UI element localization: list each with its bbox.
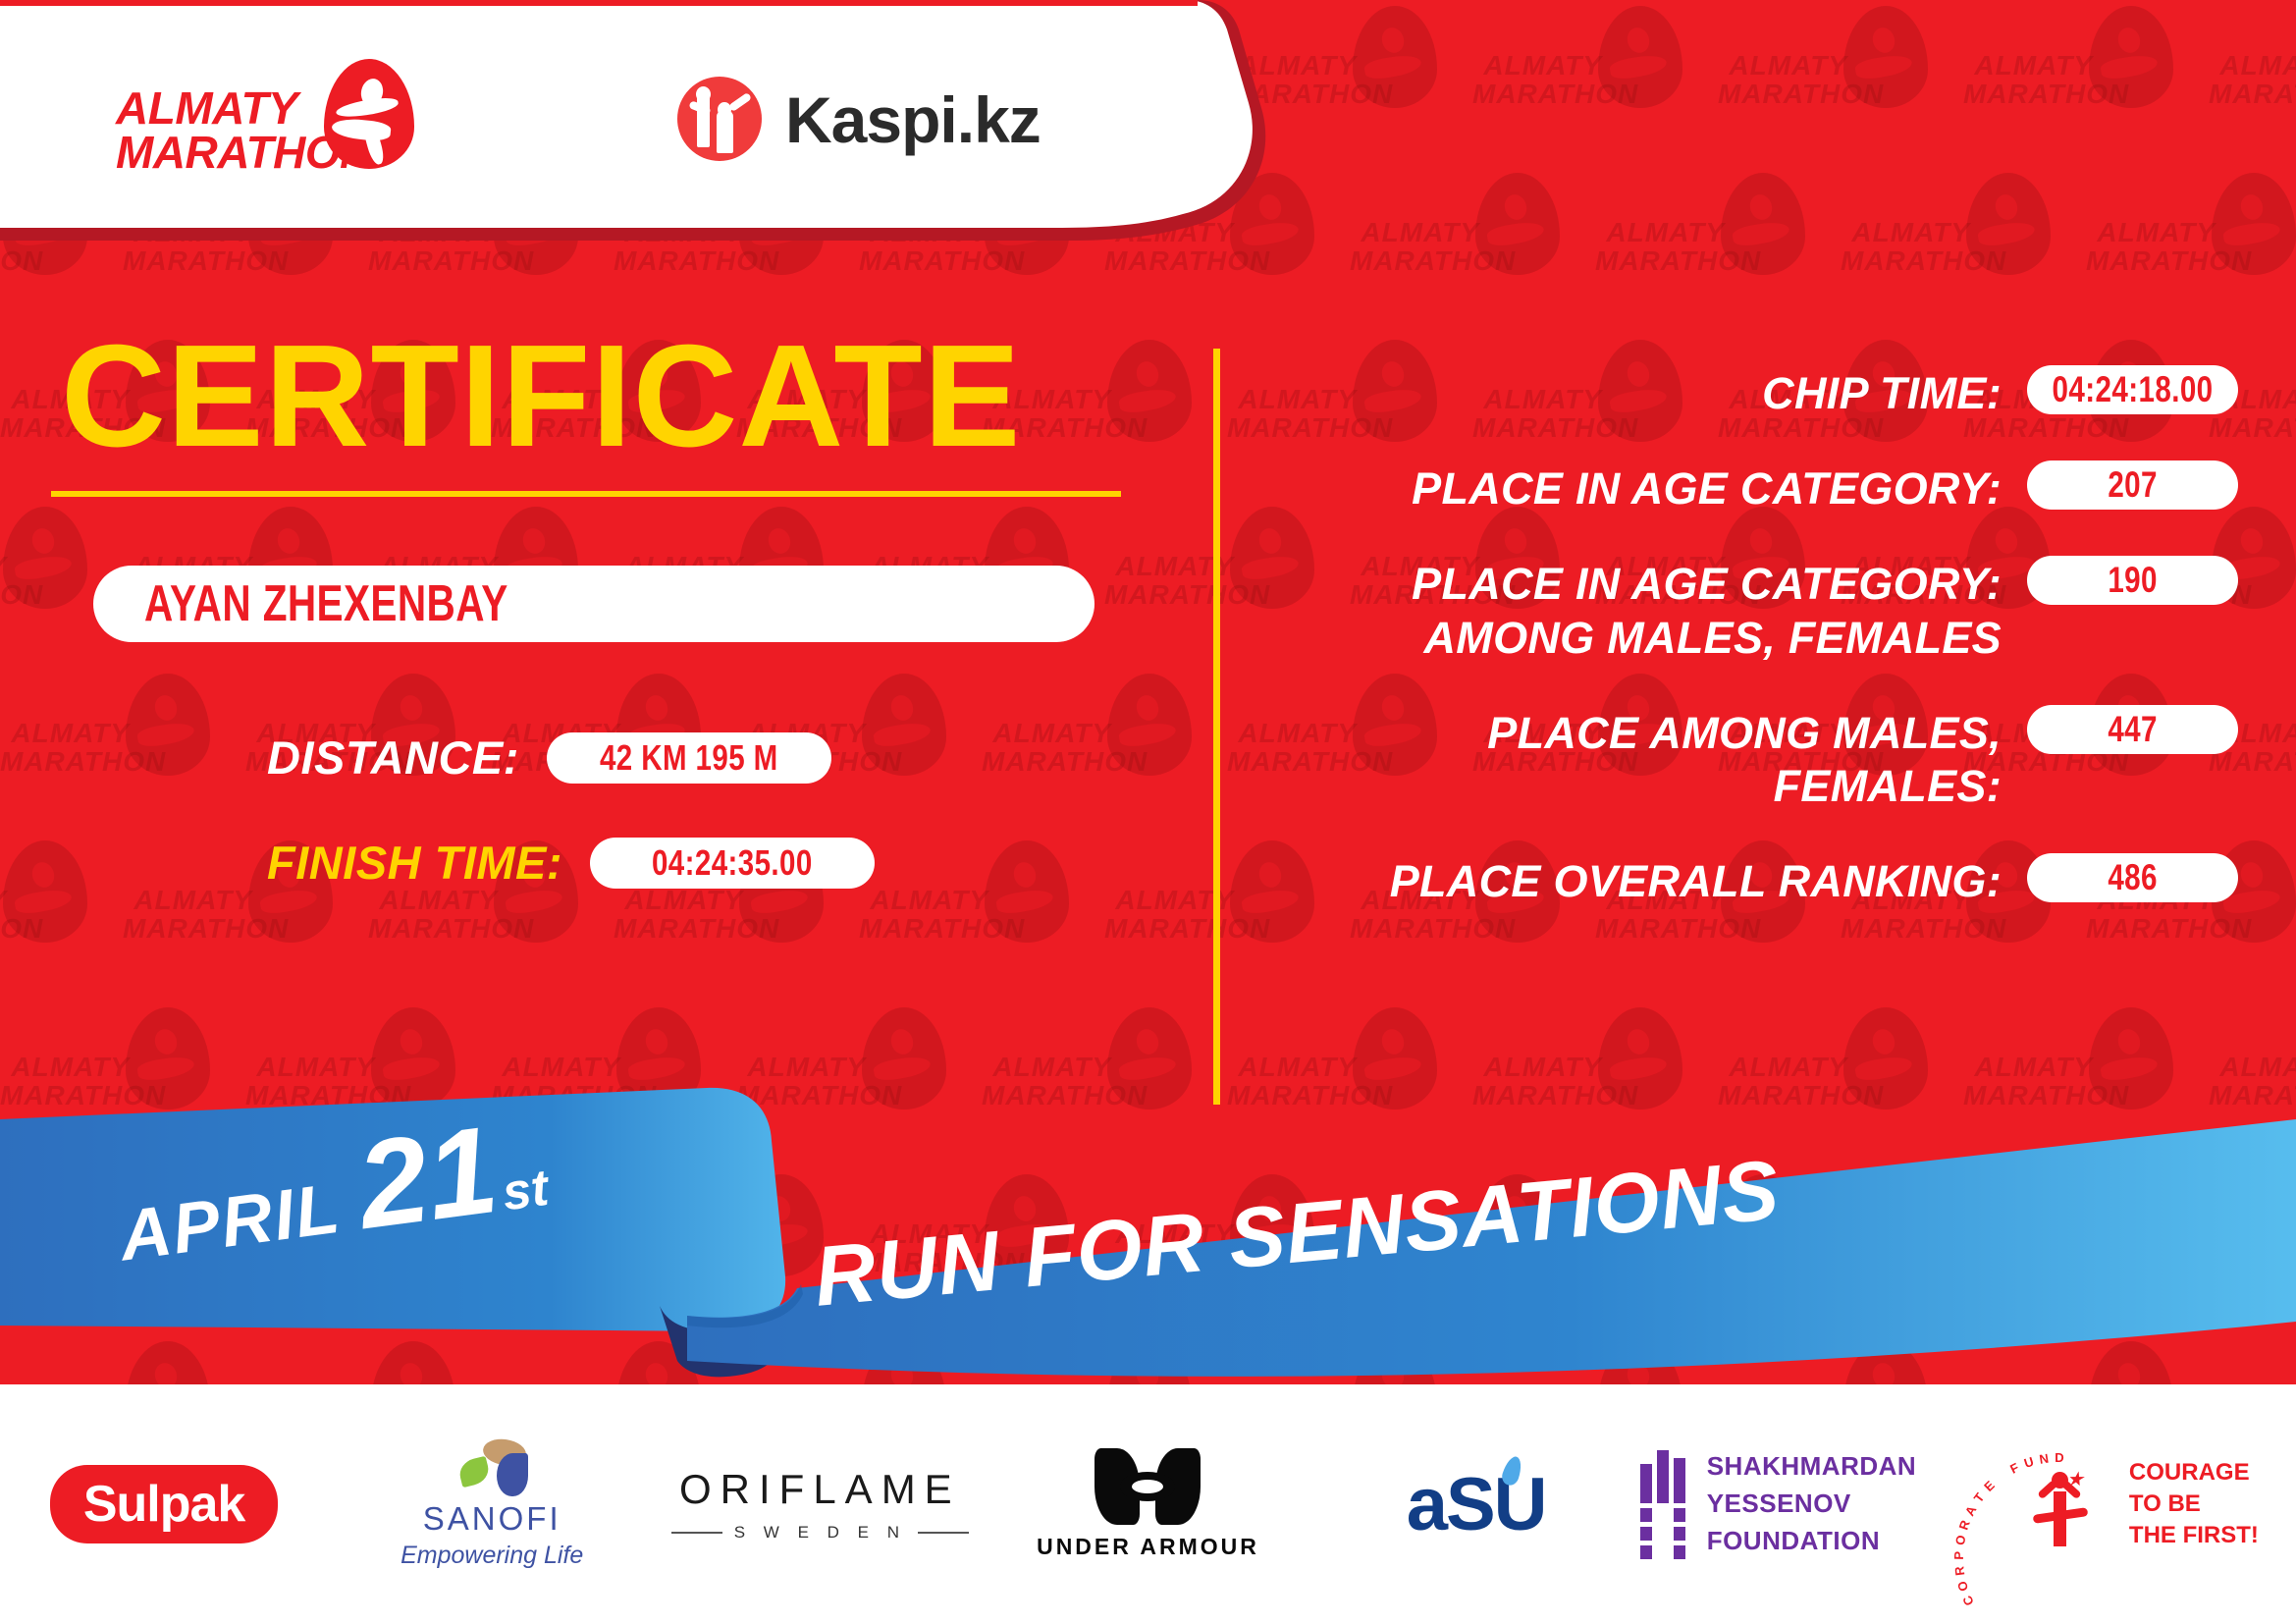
finish-time-label: FINISH TIME: [267, 836, 562, 890]
sponsor-sulpak: Sulpak [0, 1431, 328, 1578]
watermark-text: ALMATYMARATHON [2209, 51, 2296, 109]
sulpak-logo: Sulpak [50, 1465, 279, 1543]
raised-arms-figure-icon: ★ [2039, 1472, 2080, 1548]
watermark-tile: ALMATYMARATHON [2086, 167, 2296, 334]
courage-fund-wordmark: COURAGETO BETHE FIRST! [2129, 1457, 2259, 1550]
result-label: CHIP TIME: [1256, 365, 2027, 421]
distance-value-pill: 42 KM 195 M [547, 732, 831, 784]
almaty-marathon-logo: ALMATY MARATHON [116, 59, 440, 177]
finish-time-value: 04:24:35.00 [652, 842, 813, 884]
sponsor-under-armour: UNDER ARMOUR [984, 1431, 1311, 1578]
oriflame-country: S W E D E N [734, 1523, 906, 1543]
watermark-drop-icon [1843, 6, 1928, 108]
watermark-text: ALMATYMARATHON [123, 886, 252, 944]
result-value: 04:24:18.00 [2052, 369, 2213, 410]
asu-wordmark: aSU [1407, 1463, 1546, 1546]
kaspi-wordmark: Kaspi.kz [785, 82, 1041, 157]
watermark-drop-icon [2089, 6, 2173, 108]
page-title: CERTIFICATE [61, 324, 1207, 469]
watermark-tile: ALMATYMARATHON [1472, 0, 1718, 167]
watermark-text: ALMATYMARATHON [2086, 218, 2216, 276]
under-armour-wordmark: UNDER ARMOUR [1037, 1534, 1259, 1560]
watermark-drop-icon [1475, 173, 1560, 275]
oriflame-wordmark: ORIFLAME [679, 1466, 961, 1513]
ring-char: E [1981, 1478, 1998, 1494]
watermark-tile: ALMATYMARATHON [2209, 0, 2296, 167]
ring-char: P [1951, 1551, 1966, 1560]
watermark-tile: ALMATYMARATHON [1718, 0, 1963, 167]
asu-logo: aSU [1407, 1462, 1546, 1547]
watermark-text: ALMATYMARATHON [1718, 51, 1847, 109]
ring-char: O [1954, 1580, 1971, 1594]
ring-char: U [2022, 1454, 2036, 1471]
athlete-name-value: AYAN ZHEXENBAY [144, 574, 508, 633]
results-panel: CHIP TIME:04:24:18.00PLACE IN AGE CATEGO… [1256, 365, 2238, 948]
watermark-text: ALMATYMARATHON [614, 886, 743, 944]
watermark-tile: ALMATYMARATHON [1963, 0, 2209, 167]
result-value-pill: 486 [2027, 853, 2238, 902]
result-value: 190 [2108, 560, 2158, 601]
sponsor-bar: Sulpak SANOFI Empowering Life ORIFLAME S… [0, 1384, 2296, 1624]
event-month: APRIL [115, 1168, 346, 1277]
sanofi-tagline: Empowering Life [400, 1542, 583, 1570]
sulpak-wordmark: Sulpak [83, 1476, 245, 1533]
distance-row: DISTANCE: 42 KM 195 M [267, 731, 1207, 785]
watermark-tile: ALMATYMARATHON [1350, 167, 1595, 334]
result-row: PLACE AMONG MALES,FEMALES:447 [1256, 705, 2238, 815]
certificate-card: ALMATYMARATHONALMATYMARATHONALMATYMARATH… [0, 0, 2296, 1624]
sponsor-courage-fund: CORPORATE FUND ★ COURAGETO BETHE FIRST! [1968, 1431, 2296, 1578]
yessenov-foundation-wordmark: SHAKHMARDAN YESSENOVFOUNDATION [1707, 1448, 1968, 1559]
family-circle-icon [677, 77, 762, 161]
top-accent-line [0, 0, 1198, 6]
ring-char: T [1971, 1490, 1988, 1505]
distance-value: 42 KM 195 M [600, 737, 778, 779]
result-value-pill: 207 [2027, 460, 2238, 510]
watermark-text: ALMATYMARATHON [368, 886, 498, 944]
kaspi-logo: Kaspi.kz [677, 77, 1090, 171]
watermark-tile: ALMATYMARATHON [1595, 167, 1841, 334]
watermark-text: ALMATYMARATHON [859, 886, 988, 944]
event-day: 21 [349, 1098, 505, 1257]
result-row: CHIP TIME:04:24:18.00 [1256, 365, 2238, 421]
ring-char: F [2007, 1460, 2021, 1477]
finish-time-row: FINISH TIME: 04:24:35.00 [267, 836, 1207, 890]
result-value-pill: 04:24:18.00 [2027, 365, 2238, 414]
ring-char: C [1959, 1594, 1977, 1608]
vertical-divider [1213, 349, 1220, 1105]
result-row: PLACE IN AGE CATEGORY:207 [1256, 460, 2238, 516]
result-value-pill: 190 [2027, 556, 2238, 605]
watermark-text: ALMATYMARATHON [1472, 51, 1602, 109]
watermark-drop-icon [1966, 173, 2051, 275]
sponsor-yessenov-foundation: SHAKHMARDAN YESSENOVFOUNDATION [1640, 1431, 1968, 1578]
sponsor-asu: aSU [1312, 1431, 1640, 1578]
result-label: PLACE IN AGE CATEGORY:AMONG MALES, FEMAL… [1256, 556, 2027, 666]
athlete-name-field: AYAN ZHEXENBAY [93, 566, 1095, 642]
watermark-drop-icon [2212, 173, 2296, 275]
distance-label: DISTANCE: [267, 731, 519, 785]
watermark-tile: ALMATYMARATHON [1841, 167, 2086, 334]
result-label: PLACE IN AGE CATEGORY: [1256, 460, 2027, 516]
result-value-pill: 447 [2027, 705, 2238, 754]
title-underline [51, 491, 1121, 497]
yessenov-foundation-logo [1640, 1450, 1685, 1559]
result-row: PLACE IN AGE CATEGORY:AMONG MALES, FEMAL… [1256, 556, 2238, 666]
event-day-suffix: st [499, 1159, 552, 1223]
ring-char: R [1951, 1565, 1967, 1576]
watermark-text: ALMATYMARATHON [0, 886, 7, 944]
sponsor-sanofi: SANOFI Empowering Life [328, 1431, 656, 1578]
finish-time-value-pill: 04:24:35.00 [590, 838, 875, 889]
result-value: 447 [2108, 709, 2158, 750]
sponsor-oriflame: ORIFLAME S W E D E N [656, 1431, 984, 1578]
watermark-text: ALMATYMARATHON [1841, 218, 1970, 276]
result-row: PLACE OVERALL RANKING:486 [1256, 853, 2238, 909]
running-figure-drop-icon [324, 59, 414, 169]
result-value: 207 [2108, 464, 2158, 506]
sanofi-logo [452, 1439, 532, 1496]
watermark-text: ALMATYMARATHON [1595, 218, 1725, 276]
oriflame-subline: S W E D E N [671, 1523, 969, 1543]
watermark-text: ALMATYMARATHON [1350, 218, 1479, 276]
ring-char: N [2038, 1451, 2050, 1467]
watermark-text: ALMATYMARATHON [1963, 51, 2093, 109]
courage-fund-logo: CORPORATE FUND ★ [2005, 1450, 2113, 1558]
watermark-drop-icon [1353, 6, 1437, 108]
result-label: PLACE AMONG MALES,FEMALES: [1256, 705, 2027, 815]
certificate-left-column: CERTIFICATE AYAN ZHEXENBAY DISTANCE: 42 … [0, 324, 1207, 890]
result-label: PLACE OVERALL RANKING: [1256, 853, 2027, 909]
watermark-drop-icon [1598, 6, 1682, 108]
ring-char: D [2055, 1450, 2063, 1465]
under-armour-logo [1095, 1448, 1201, 1525]
watermark-drop-icon [1721, 173, 1805, 275]
result-value: 486 [2108, 857, 2158, 898]
sanofi-wordmark: SANOFI [423, 1500, 561, 1538]
